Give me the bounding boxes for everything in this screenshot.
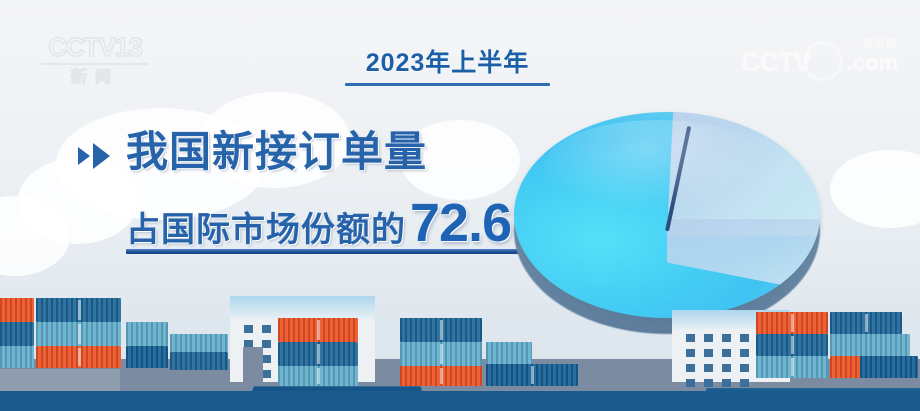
headline-line-2-label: 占国际市场份额的 (126, 202, 406, 251)
container-ribbing (0, 322, 34, 346)
building-window (262, 370, 271, 378)
statistic-value: 72.6 (410, 196, 511, 250)
shipping-container (400, 318, 482, 342)
container-ribbing (126, 346, 168, 368)
container-ribbing (860, 334, 910, 356)
shipping-container (0, 346, 34, 368)
news-graphic-screen: CCTV13 新闻 CCTV 央视网 .com 2023年上半年 我国新接订单量… (0, 0, 920, 411)
building-window-row (686, 334, 749, 342)
container-door-seam (317, 320, 320, 340)
watermark-cn-text: 央视网 (862, 38, 898, 50)
building-window (686, 379, 695, 387)
container-ribbing (486, 342, 532, 364)
container-ribbing (0, 346, 34, 368)
shipping-container (486, 342, 532, 364)
building-window (686, 349, 695, 357)
building-window (262, 355, 271, 363)
chevron-marker-group (78, 143, 110, 169)
container-door-seam (440, 344, 443, 364)
container-door-seam (791, 314, 794, 332)
shipping-container (756, 312, 828, 334)
shipping-container (278, 366, 358, 386)
container-door-seam (78, 348, 81, 366)
building-window-row (686, 364, 749, 372)
headline-line-1: 我国新接订单量 (126, 128, 427, 176)
channel-logo-divider (41, 63, 149, 65)
shipping-container (36, 298, 121, 322)
shipping-container (36, 346, 121, 368)
building-window (686, 334, 695, 342)
container-door-seam (440, 368, 443, 385)
chevron-right-icon-large (93, 143, 110, 169)
pier-left (0, 369, 120, 391)
port-scene (0, 276, 920, 411)
building-window-row (686, 379, 749, 387)
channel-logo-text: CCTV13 (30, 32, 160, 62)
building-window (740, 364, 749, 372)
watermark-ring-icon (803, 41, 843, 81)
shipping-container (278, 342, 358, 366)
building-window (686, 364, 695, 372)
channel-logo-subtitle: 新闻 (30, 68, 160, 88)
building-window (722, 364, 731, 372)
building-window (704, 334, 713, 342)
container-ribbing (170, 334, 228, 352)
harbor-water (0, 391, 920, 411)
shipping-container (170, 352, 228, 370)
watermark-cctv-text: CCTV (741, 49, 811, 75)
pie-chart-gloss (545, 120, 771, 211)
building-window (262, 340, 271, 348)
building-window (740, 349, 749, 357)
building-roof (230, 296, 375, 318)
building-window (704, 364, 713, 372)
building-window (722, 349, 731, 357)
shipping-container (0, 298, 34, 322)
headline-title-block: 2023年上半年 (340, 48, 555, 86)
shipping-container (170, 334, 228, 352)
cctv13-channel-logo: CCTV13 新闻 (30, 32, 160, 100)
page-title: 2023年上半年 (340, 48, 555, 78)
building-window-row (686, 349, 749, 357)
container-door-seam (791, 358, 794, 376)
container-door-seam (531, 366, 534, 384)
container-door-seam (78, 324, 81, 344)
headline-line-2: 占国际市场份额的 72.6 % (126, 196, 541, 251)
container-door-seam (78, 300, 81, 320)
container-ribbing (170, 352, 228, 370)
container-door-seam (317, 344, 320, 364)
building-window (740, 379, 749, 387)
shipping-container (400, 366, 482, 386)
shipping-container (486, 364, 578, 386)
shipping-container (830, 312, 902, 334)
shipping-container (126, 322, 168, 346)
shipping-container (36, 322, 121, 346)
shipping-container (0, 322, 34, 346)
container-door-seam (440, 320, 443, 340)
container-ribbing (860, 356, 918, 378)
shipping-container (126, 346, 168, 368)
shipping-container (756, 356, 828, 378)
shipping-container (860, 356, 918, 378)
building-window (722, 379, 731, 387)
cctv-com-watermark: CCTV 央视网 .com (741, 34, 898, 75)
container-ribbing (126, 322, 168, 346)
container-ribbing (0, 298, 34, 322)
shipping-container (860, 334, 910, 356)
building-window (244, 325, 253, 333)
container-door-seam (865, 314, 868, 332)
shipping-container (756, 334, 828, 356)
cloud-shape (830, 150, 920, 228)
chevron-right-icon-small (78, 147, 90, 165)
ship-superstructure (243, 347, 263, 387)
shipping-container (278, 318, 358, 342)
building-window (262, 325, 271, 333)
container-door-seam (317, 368, 320, 385)
title-underline (345, 83, 550, 86)
watermark-domain-text: .com (847, 50, 898, 75)
building-window (704, 379, 713, 387)
shipping-container (400, 342, 482, 366)
building-window (740, 334, 749, 342)
building-window (722, 334, 731, 342)
building-window (704, 349, 713, 357)
container-door-seam (791, 336, 794, 354)
